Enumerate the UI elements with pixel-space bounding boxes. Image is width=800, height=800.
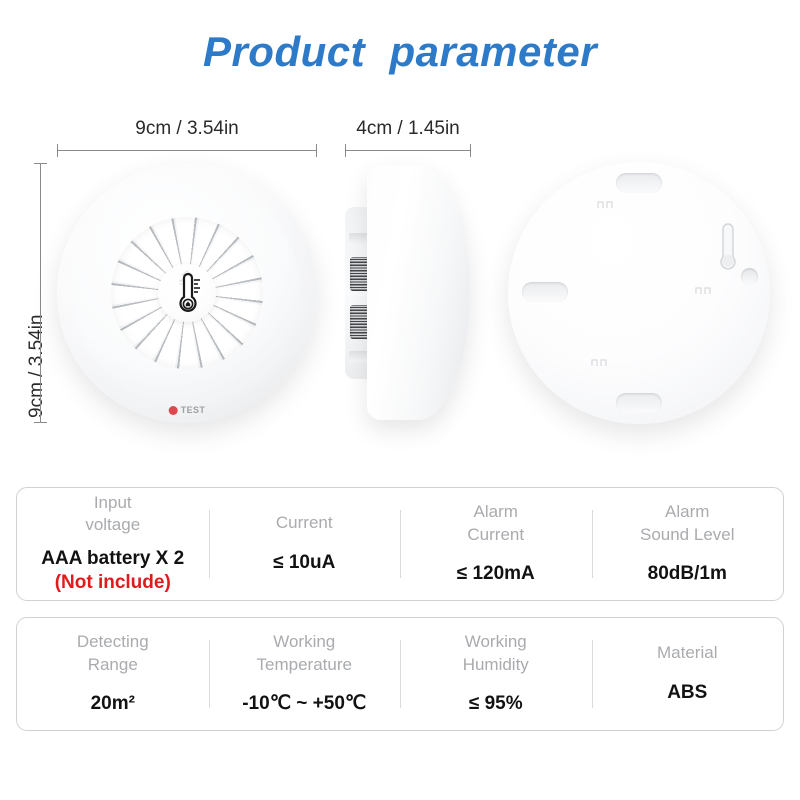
spec-cell-working-temperature: Working Temperature -10℃ ~ +50℃ bbox=[209, 618, 401, 730]
back-clip-icon-top bbox=[596, 198, 614, 210]
spec-value: 80dB/1m bbox=[648, 562, 727, 587]
spec-header: Detecting Range bbox=[77, 631, 149, 676]
spec-cell-current: Current ≤ 10uA bbox=[209, 488, 401, 600]
test-button[interactable]: TEST bbox=[169, 405, 206, 415]
spec-value: -10℃ ~ +50℃ bbox=[242, 692, 366, 717]
spec-value: 20m² bbox=[91, 692, 135, 717]
spec-header: Alarm Sound Level bbox=[640, 501, 735, 546]
spec-table-electrical: Input voltage AAA battery X 2 (Not inclu… bbox=[16, 487, 784, 601]
screw-hole bbox=[741, 268, 758, 285]
product-images: TEST bbox=[0, 0, 800, 470]
product-side-view bbox=[345, 165, 470, 420]
spec-cell-alarm-sound-level: Alarm Sound Level 80dB/1m bbox=[592, 488, 784, 600]
spec-cell-alarm-current: Alarm Current ≤ 120mA bbox=[400, 488, 592, 600]
spec-value: ≤ 10uA bbox=[273, 551, 335, 576]
back-clip-icon-bottom bbox=[590, 356, 608, 368]
back-clip-icon-side bbox=[694, 284, 712, 296]
mount-slot-bottom bbox=[616, 393, 662, 413]
side-body-shell bbox=[367, 165, 470, 420]
spec-cell-working-humidity: Working Humidity ≤ 95% bbox=[400, 618, 592, 730]
spec-header: Working Humidity bbox=[463, 631, 529, 676]
keyhole-mount-icon bbox=[712, 220, 744, 282]
spec-value-note: (Not include) bbox=[55, 571, 171, 596]
product-parameter-page: Product parameter 9cm / 3.54in 4cm / 1.4… bbox=[0, 0, 800, 800]
spec-value: AAA battery X 2 bbox=[41, 547, 184, 572]
mount-slot-left bbox=[522, 282, 568, 302]
front-vent-slots bbox=[111, 217, 263, 369]
spec-value: ≤ 95% bbox=[469, 692, 523, 717]
spec-header: Current bbox=[276, 512, 333, 534]
thermometer-icon bbox=[170, 272, 204, 314]
front-center-panel bbox=[158, 264, 216, 322]
front-inner-ring bbox=[73, 179, 301, 407]
spec-table-environmental: Detecting Range 20m² Working Temperature… bbox=[16, 617, 784, 731]
spec-cell-material: Material ABS bbox=[592, 618, 784, 730]
spec-header: Material bbox=[657, 642, 717, 664]
product-back-view bbox=[508, 162, 770, 424]
test-button-label: TEST bbox=[181, 405, 206, 415]
spec-value: ≤ 120mA bbox=[457, 562, 535, 587]
spec-cell-detecting-range: Detecting Range 20m² bbox=[17, 618, 209, 730]
mount-slot-top bbox=[616, 173, 662, 193]
front-outer-shell: TEST bbox=[57, 163, 317, 423]
test-led-indicator bbox=[169, 406, 178, 415]
side-clip-top bbox=[349, 233, 369, 244]
spec-cell-input-voltage: Input voltage AAA battery X 2 (Not inclu… bbox=[17, 488, 209, 600]
spec-value: ABS bbox=[667, 681, 707, 706]
side-clip-bottom bbox=[349, 351, 369, 362]
product-front-view: TEST bbox=[57, 163, 317, 423]
spec-header: Working Temperature bbox=[257, 631, 352, 676]
spec-header: Input voltage bbox=[85, 492, 140, 537]
back-plate bbox=[508, 162, 770, 424]
spec-header: Alarm Current bbox=[467, 501, 524, 546]
